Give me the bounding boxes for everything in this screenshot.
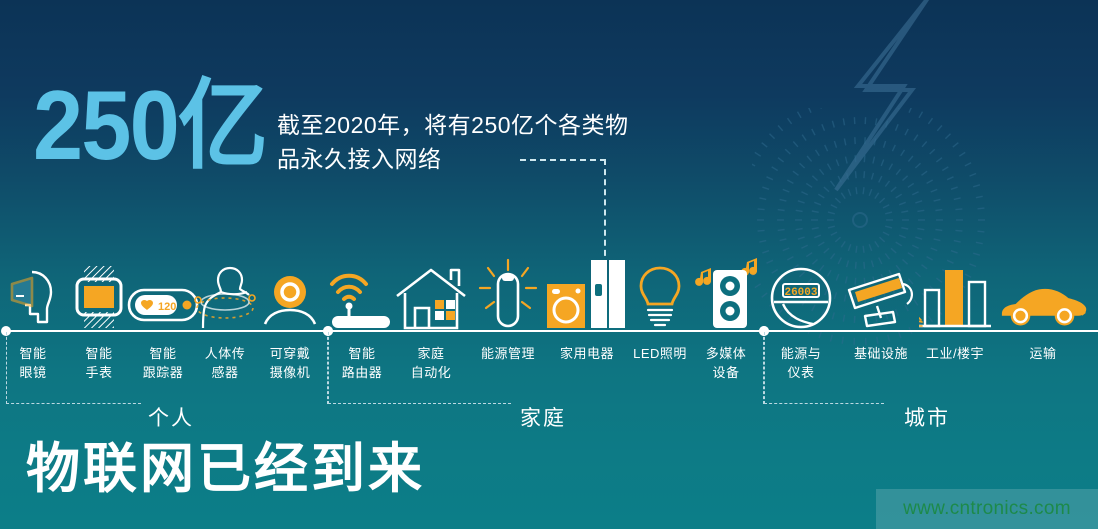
headline-lede: 截至2020年，将有250亿个各类物品永久接入网络 [277,108,637,176]
footer-title: 物联网已经到来 [26,424,425,503]
group-personal: 智能 眼镜智能 手表智能 跟踪器人体传 感器可穿戴 摄像机 个人 [6,330,328,430]
group-bracket-bottom [328,403,511,404]
watermark: www.cntronics.com [876,489,1098,529]
item-label-multimedia-speaker: 多媒体 设备 [684,344,768,382]
icon-row: 120 [0,252,1098,330]
item-label-home-automation: 家庭 自动化 [389,344,473,382]
svg-text:120: 120 [158,301,176,313]
lightning-bolt-icon [800,0,1020,254]
watermark-text: www.cntronics.com [903,498,1071,520]
connector-line-vertical [604,159,606,266]
group-name-home: 家庭 [520,402,566,432]
transport-car-icon[interactable] [998,258,1088,330]
group-city: 能源与 仪表基础设施工业/楼宇运输 城市 [764,330,1098,430]
item-label-security-camera: 基础设施 [839,344,923,363]
group-bracket-bottom [6,403,141,404]
group-item-labels: 能源与 仪表基础设施工业/楼宇运输 [764,330,1098,402]
item-label-energy-meter: 能源与 仪表 [759,344,843,382]
item-label-energy-management: 能源管理 [466,344,550,363]
group-home: 智能 路由器家庭 自动化能源管理家用电器LED照明多媒体 设备 家庭 [328,330,764,430]
buildings-icon[interactable] [910,258,1000,330]
svg-text:26003: 26003 [784,287,817,299]
infographic-canvas: 250亿 截至2020年，将有250亿个各类物品永久接入网络 120 [0,0,1098,529]
energy-meter-icon[interactable]: 26003 [756,258,846,330]
item-label-transport-car: 运输 [1001,344,1085,363]
group-item-labels: 智能 眼镜智能 手表智能 跟踪器人体传 感器可穿戴 摄像机 [6,330,328,402]
big-number: 250亿 [33,76,266,174]
group-bracket-bottom [764,403,884,404]
group-name-city: 城市 [904,402,950,432]
item-label-home-appliances: 家用电器 [545,344,629,363]
energy-management-icon[interactable] [463,258,553,330]
item-label-buildings: 工业/楼宇 [913,344,997,363]
group-item-labels: 智能 路由器家庭 自动化能源管理家用电器LED照明多媒体 设备 [328,330,764,402]
connector-line-horizontal [520,159,606,161]
